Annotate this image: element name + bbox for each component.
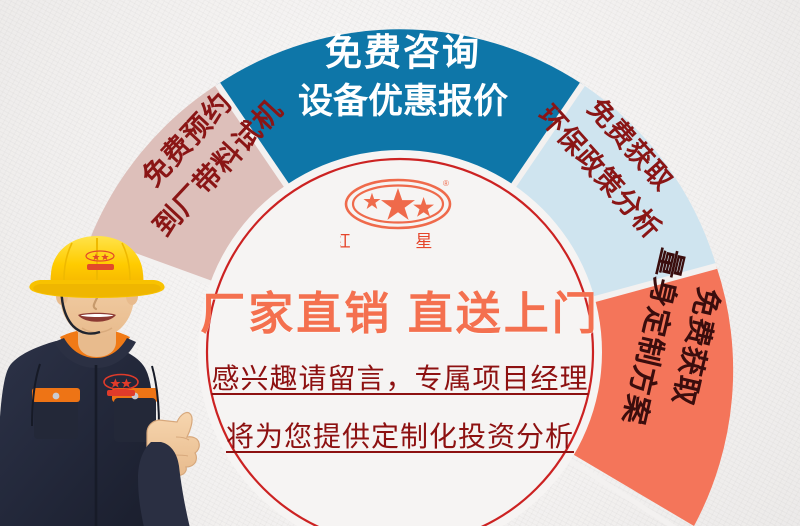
logo-wordmark: 红 星 [340, 232, 460, 251]
worker-illustration [0, 236, 209, 526]
brand-logo: ® 红 星 [340, 175, 460, 253]
worker-photo [0, 236, 209, 526]
hard-hat [29, 236, 164, 298]
headline: 厂家直销 直送上门 [170, 277, 630, 342]
subline-2: 将为您提供定制化投资分析 [170, 415, 630, 455]
worker-uniform [0, 331, 159, 526]
promo-banner: 免费咨询 设备优惠报价 免费预约 到厂带料试机 免费获取 环保政策分析 免费获取… [0, 0, 800, 526]
center-content: ® 红 星 厂家直销 直送上门 感兴趣请留言，专属项目经理 将为您提供定制化投资… [170, 175, 630, 465]
worker-thumbs-up-hand [138, 413, 199, 526]
hongxing-logo-icon: ® 红 星 [340, 175, 460, 253]
svg-text:®: ® [443, 179, 449, 188]
subline-1: 感兴趣请留言，专属项目经理 [170, 357, 630, 397]
